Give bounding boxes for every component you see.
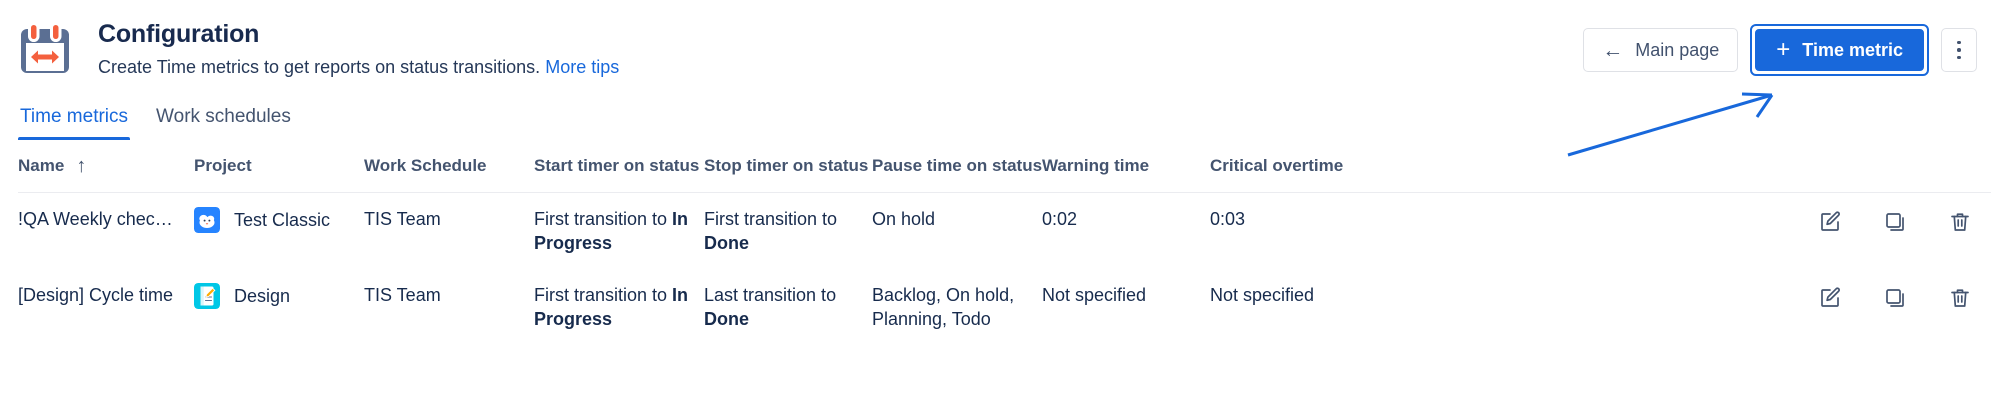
tab-bar: Time metrics Work schedules <box>0 102 2005 140</box>
tab-time-metrics[interactable]: Time metrics <box>18 102 130 140</box>
cell-start-timer-prefix: First transition to <box>534 209 672 229</box>
tab-time-metrics-label: Time metrics <box>20 106 128 127</box>
trash-icon <box>1948 286 1972 310</box>
cell-work-schedule: TIS Team <box>364 269 534 345</box>
cell-critical-overtime: Not specified <box>1210 269 1450 345</box>
duplicate-metric-button[interactable] <box>1878 283 1912 313</box>
table-row[interactable]: !QA Weekly check cr... <box>18 193 1991 270</box>
cell-critical-overtime: 0:03 <box>1210 193 1450 270</box>
cell-metric-name: !QA Weekly check cr... <box>18 193 194 270</box>
edit-metric-button[interactable] <box>1813 207 1847 237</box>
table-header-row: Name ↑ Project Work Schedule Start timer… <box>18 152 1991 193</box>
cell-project: Design <box>194 269 364 345</box>
title-block: Configuration Create Time metrics to get… <box>98 16 1583 79</box>
more-actions-button[interactable] <box>1941 28 1977 72</box>
edit-metric-button[interactable] <box>1813 283 1847 313</box>
column-header-pause-time[interactable]: Pause time on status <box>872 152 1042 193</box>
column-header-name-label: Name <box>18 156 64 176</box>
cell-start-timer-prefix: First transition to <box>534 285 672 305</box>
column-header-work-schedule[interactable]: Work Schedule <box>364 152 534 193</box>
cell-row-actions <box>1450 193 1991 270</box>
cell-start-timer: First transition to In Progress <box>534 269 704 345</box>
cell-warning-time: 0:02 <box>1042 193 1210 270</box>
tab-bar-divider <box>18 139 1991 140</box>
column-header-project[interactable]: Project <box>194 152 364 193</box>
arrow-left-icon: ← <box>1602 40 1623 61</box>
cell-pause-time: Backlog, On hold, Planning, Todo <box>872 269 1042 345</box>
more-tips-link[interactable]: More tips <box>545 57 619 77</box>
cell-metric-name: [Design] Cycle time <box>18 269 194 345</box>
column-header-stop-timer[interactable]: Stop timer on status <box>704 152 872 193</box>
column-header-name[interactable]: Name ↑ <box>18 152 194 193</box>
cell-warning-time: Not specified <box>1042 269 1210 345</box>
column-header-warning-time[interactable]: Warning time <box>1042 152 1210 193</box>
delete-metric-button[interactable] <box>1943 283 1977 313</box>
table-body: !QA Weekly check cr... <box>18 193 1991 346</box>
duplicate-metric-button[interactable] <box>1878 207 1912 237</box>
table-row[interactable]: [Design] Cycle time Design <box>18 269 1991 345</box>
column-header-start-timer[interactable]: Start timer on status <box>534 152 704 193</box>
tab-work-schedules[interactable]: Work schedules <box>154 102 293 140</box>
cell-stop-timer: First transition to Done <box>704 193 872 270</box>
pencil-edit-icon <box>1818 210 1842 234</box>
trash-icon <box>1948 210 1972 234</box>
plus-icon: + <box>1776 38 1790 62</box>
time-metrics-table-container: Name ↑ Project Work Schedule Start timer… <box>0 152 2005 345</box>
copy-icon <box>1883 210 1907 234</box>
header-actions: ← Main page + Time metric <box>1583 24 1981 76</box>
time-metric-button-focus-ring: + Time metric <box>1750 24 1929 76</box>
pencil-edit-icon <box>1818 286 1842 310</box>
test-classic-avatar <box>194 207 220 233</box>
calendar-time-metric-icon <box>18 22 72 76</box>
page-header: Configuration Create Time metrics to get… <box>0 0 2005 92</box>
cell-stop-timer-status: Done <box>704 233 749 253</box>
page-subtitle: Create Time metrics to get reports on st… <box>98 55 1583 79</box>
page-title: Configuration <box>98 19 1583 49</box>
add-time-metric-button[interactable]: + Time metric <box>1755 29 1924 71</box>
page-subtitle-text: Create Time metrics to get reports on st… <box>98 57 540 77</box>
cell-start-timer: First transition to In Progress <box>534 193 704 270</box>
main-page-button[interactable]: ← Main page <box>1583 28 1738 72</box>
column-header-actions <box>1450 152 1991 193</box>
table-header: Name ↑ Project Work Schedule Start timer… <box>18 152 1991 193</box>
main-page-button-label: Main page <box>1635 41 1719 59</box>
cell-project-label: Test Classic <box>234 208 330 232</box>
design-notepad-avatar <box>194 283 220 309</box>
copy-icon <box>1883 286 1907 310</box>
cell-stop-timer-status: Done <box>704 309 749 329</box>
cell-pause-time: On hold <box>872 193 1042 270</box>
column-header-critical-overtime[interactable]: Critical overtime <box>1210 152 1450 193</box>
delete-metric-button[interactable] <box>1943 207 1977 237</box>
cell-stop-timer: Last transition to Done <box>704 269 872 345</box>
more-vertical-icon <box>1957 41 1961 60</box>
cell-project: Test Classic <box>194 193 364 270</box>
cell-project-label: Design <box>234 284 290 308</box>
cell-row-actions <box>1450 269 1991 345</box>
cell-stop-timer-prefix: Last transition to <box>704 285 836 305</box>
cell-work-schedule: TIS Team <box>364 193 534 270</box>
tab-work-schedules-label: Work schedules <box>156 106 291 127</box>
add-time-metric-button-label: Time metric <box>1802 41 1903 59</box>
arrow-up-icon: ↑ <box>76 156 86 176</box>
time-metrics-table: Name ↑ Project Work Schedule Start timer… <box>18 152 1991 345</box>
cell-stop-timer-prefix: First transition to <box>704 209 837 229</box>
